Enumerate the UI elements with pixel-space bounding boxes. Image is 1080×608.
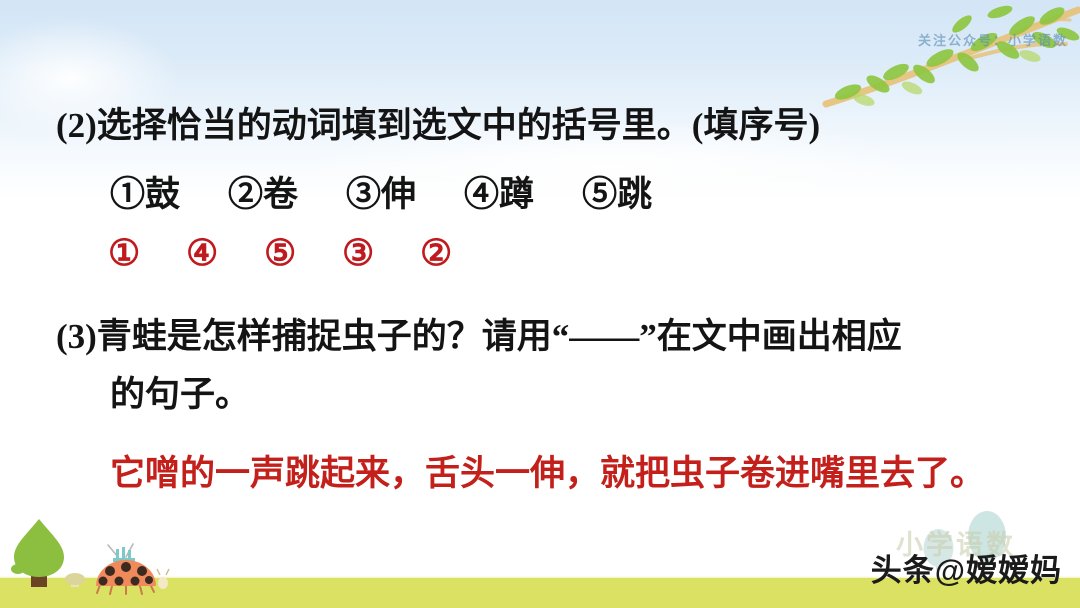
answer-mark-1: ①: [108, 232, 186, 274]
question-3-prompt-line-2: 的句子。: [110, 366, 250, 417]
question-2-answer-row: ①④⑤③②: [108, 232, 498, 274]
option-5[interactable]: ⑤跳: [582, 166, 652, 217]
slide-canvas: 关注公众号：小学语数 (2)选择恰当的动词填到选文中的括号里。(填序号) ①鼓②…: [0, 0, 1080, 608]
option-4[interactable]: ④蹲: [464, 166, 534, 217]
option-3[interactable]: ③伸: [346, 166, 416, 217]
answer-mark-2: ④: [186, 232, 264, 274]
answer-mark-5: ②: [420, 232, 498, 274]
watermark-bottom-right: 头条@嫒嫒妈: [871, 545, 1062, 590]
answer-mark-3: ⑤: [264, 232, 342, 274]
answer-mark-4: ③: [342, 232, 420, 274]
question-2-prompt: (2)选择恰当的动词填到选文中的括号里。(填序号): [56, 97, 820, 148]
question-3-answer: 它噌的一声跳起来，舌头一伸，就把虫子卷进嘴里去了。: [110, 442, 1045, 506]
slide-content: (2)选择恰当的动词填到选文中的括号里。(填序号) ①鼓②卷③伸④蹲⑤跳 ①④⑤…: [0, 0, 1080, 608]
option-2[interactable]: ②卷: [228, 166, 298, 217]
question-3-prompt-line-1: (3)青蛙是怎样捕捉虫子的？请用“——”在文中画出相应: [56, 308, 902, 359]
option-1[interactable]: ①鼓: [110, 166, 180, 217]
question-2-options: ①鼓②卷③伸④蹲⑤跳: [110, 166, 652, 217]
